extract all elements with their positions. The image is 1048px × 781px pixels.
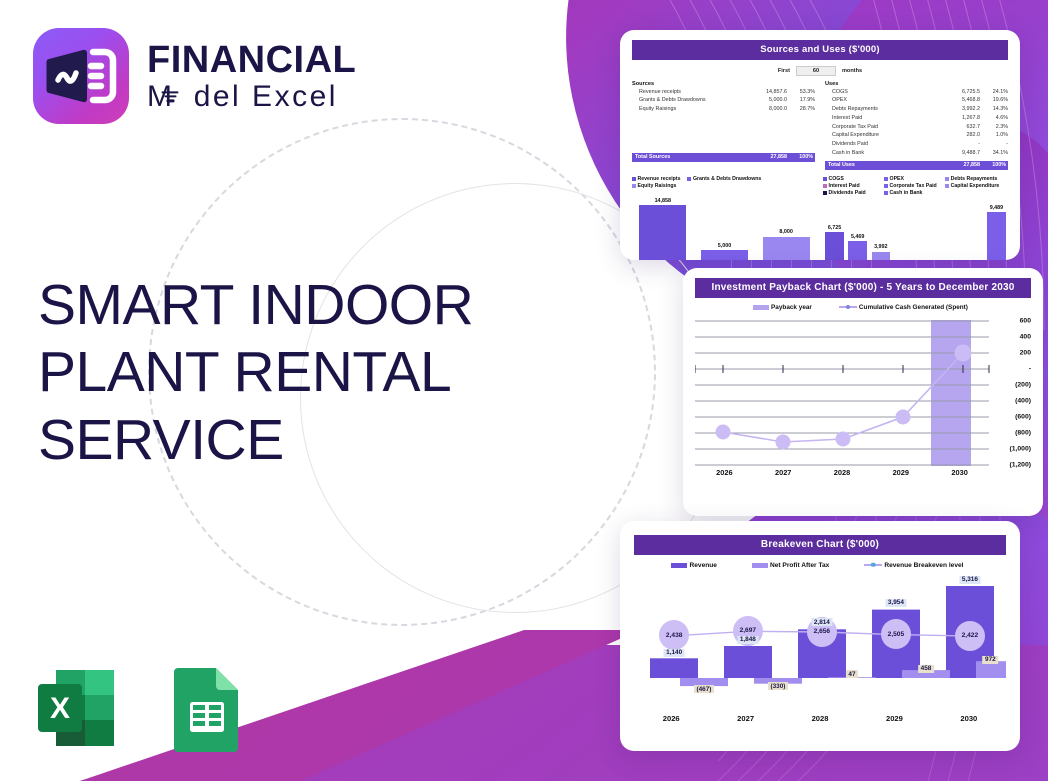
legend-swatch-icon [687,177,691,181]
bar-column: 5,469 [848,197,867,260]
uses-chart-legend: COGSOPEXDebts RepaymentsInterest PaidCor… [823,176,1008,197]
payback-plot-svg [695,320,1031,466]
legend-item: Interest Paid [823,183,884,189]
legend-item: Equity Raisings [632,183,676,189]
legend-item: COGS [823,176,884,182]
legend-label: Dividends Paid [829,190,866,196]
brand-o-bars-icon [162,89,179,104]
legend-swatch-npat-icon [752,563,768,568]
table-row: Equity Raisings8,000.028.7% [632,105,815,114]
legend-label: COGS [829,176,844,182]
table-row: Debts Repayments3,992.214.3% [825,105,1008,114]
legend-item-revenue: Revenue [671,562,717,569]
bar [763,237,810,260]
legend-swatch-icon [823,177,827,181]
bar-column: 14,858 [639,190,686,260]
legend-label: Cash in Bank [890,190,923,196]
legend-label: Capital Expenditure [951,183,1000,189]
sources-rows: Revenue receipts14,857.653.3% Grants & D… [632,88,815,114]
breakeven-chart-title: Breakeven Chart ($'000) [634,535,1006,555]
legend-item: Capital Expenditure [945,183,1006,189]
sources-and-uses-card: Sources and Uses ($'000) First 60 months… [620,30,1020,260]
bar [701,250,748,260]
bar-column: 5,000 [701,190,748,260]
legend-swatch-line-icon [839,306,857,307]
brand-name-line1: FINANCIAL [147,41,356,80]
uses-total-row: Total Uses 27,858 100% [825,161,1008,171]
revenue-value-label: 1,140 [664,649,685,657]
payback-year-band [931,320,971,466]
svg-text:X: X [50,692,70,725]
sources-uses-title: Sources and Uses ($'000) [632,40,1008,60]
legend-swatch-revenue-icon [671,563,687,568]
bar-value-label: 5,469 [851,234,865,240]
breakeven-bubble: 2,422 [955,621,985,651]
legend-swatch-icon [632,177,636,181]
uses-rows: COGS6,725.524.1% OPEX5,468.819.6% Debts … [825,88,1008,158]
bar-column: 1,268 [895,197,914,260]
bar [987,212,1006,260]
legend-label: Corporate Tax Paid [890,183,937,189]
payback-x-axis-labels: 2026 2027 2028 2029 2030 [695,468,1031,477]
breakeven-chart-legend: Revenue Net Profit After Tax Revenue Bre… [634,562,1006,570]
brand-logo: FINANCIAL Mo del Excel [33,28,356,124]
npat-value-label: 972 [983,656,999,664]
payback-plot: 600 400 200 - (200) (400) (600) (800) (1… [695,320,1031,466]
table-row: OPEX5,468.819.6% [825,96,1008,105]
npat-value-label: (467) [694,685,714,693]
npat-value-label: 47 [846,670,858,678]
legend-label: Grants & Debts Drawdowns [693,176,761,182]
legend-item-payback-year: Payback year [753,304,812,311]
bar-column: 0 [964,197,983,260]
npat-value-label: (330) [768,682,788,690]
breakeven-bubble: 2,505 [881,619,911,649]
legend-item-cumulative-cash: Cumulative Cash Generated (Spent) [839,304,968,311]
brand-line2-suffix: del Excel [194,80,338,113]
breakeven-x-axis-labels: 2026 2027 2028 2029 2030 [634,714,1006,723]
bar [825,232,844,260]
bar-value-label: 6,725 [828,225,842,231]
bar-column: 282 [941,197,960,260]
revenue-value-label: 2,814 [811,618,832,626]
table-row: Interest Paid1,267.84.6% [825,114,1008,123]
legend-item: Corporate Tax Paid [884,183,945,189]
legend-label: OPEX [890,176,904,182]
period-prefix-label: First [778,68,790,74]
bar [872,252,891,260]
legend-swatch-icon [632,184,636,188]
period-months-input[interactable]: 60 [796,66,836,76]
uses-bar-chart: COGSOPEXDebts RepaymentsInterest PaidCor… [823,172,1008,260]
period-row: First 60 months [632,66,1008,76]
legend-swatch-icon [884,184,888,188]
bar [848,241,867,260]
payback-chart-title: Investment Payback Chart ($'000) - 5 Yea… [695,278,1031,298]
legend-swatch-icon [823,184,827,188]
revenue-value-label: 1,848 [737,636,758,644]
breakeven-bubble: 2,438 [659,620,689,650]
uses-heading: Uses [825,81,1008,87]
legend-label: Interest Paid [829,183,860,189]
table-row: Dividends Paid-- [825,140,1008,149]
table-row: Revenue receipts14,857.653.3% [632,88,815,97]
bar-value-label: 9,489 [990,205,1004,211]
bar-value-label: 8,000 [779,229,793,235]
legend-swatch-icon [884,177,888,181]
breakeven-card: Breakeven Chart ($'000) Revenue Net Prof… [620,521,1020,751]
breakeven-plot: 2,438 2,697 2,656 2,505 2,422 1,140 1,84… [634,578,1006,706]
legend-label: Revenue receipts [638,176,681,182]
payback-y-axis-labels: 600 400 200 - (200) (400) (600) (800) (1… [991,320,1031,466]
page-title: SMART INDOOR PLANT RENTAL SERVICE [38,272,538,474]
revenue-value-label: 5,316 [959,576,980,584]
google-sheets-icon [160,662,252,754]
legend-swatch-breakeven-line-icon [864,564,882,565]
table-row: Corporate Tax Paid632.72.3% [825,123,1008,132]
legend-swatch-bar-icon [753,305,769,310]
bar-value-label: 14,858 [655,198,672,204]
financial-model-excel-logo-icon [33,28,129,124]
npat-value-label: 458 [918,665,934,673]
bar-value-label: 5,000 [718,243,732,249]
brand-o-glyph: Mo [147,80,194,113]
bar-column: 633 [918,197,937,260]
uses-bars: 6,7255,4693,9921,26863328209,489 [823,197,1008,260]
sources-chart-legend: Revenue receiptsGrants & Debts Drawdowns… [632,176,817,190]
brand-name-line2: Mo del Excel [147,80,356,113]
sources-column: Sources Revenue receipts14,857.653.3% Gr… [632,81,815,171]
legend-label: Equity Raisings [638,183,677,189]
legend-swatch-icon [945,184,949,188]
uses-column: Uses COGS6,725.524.1% OPEX5,468.819.6% D… [825,81,1008,171]
bar-column: 9,489 [987,197,1006,260]
sources-bars: 14,8585,0008,000 [632,190,817,260]
legend-item: Revenue receipts [632,176,680,182]
payback-chart-legend: Payback year Cumulative Cash Generated (… [695,304,1031,312]
legend-label: Debts Repayments [951,176,998,182]
legend-item-revenue-breakeven-level: Revenue Breakeven level [864,562,963,569]
investment-payback-card: Investment Payback Chart ($'000) - 5 Yea… [683,268,1043,516]
table-row: Cash in Bank9,488.734.1% [825,149,1008,158]
legend-swatch-icon [884,191,888,195]
sources-total-row: Total Sources 27,858 100% [632,153,815,163]
legend-item: Cash in Bank [884,190,945,196]
table-row: Grants & Debts Drawdowns5,000.017.9% [632,96,815,105]
bar-value-label: 3,992 [874,244,888,250]
legend-item: Grants & Debts Drawdowns [687,176,761,182]
microsoft-excel-icon: X [30,662,122,754]
period-suffix-label: months [842,68,862,74]
bar-column: 6,725 [825,197,844,260]
bar-column: 8,000 [763,190,810,260]
table-row: COGS6,725.524.1% [825,88,1008,97]
supported-formats: X [30,662,252,754]
revenue-value-label: 3,954 [885,599,906,607]
bar [639,205,686,260]
table-row: Capital Expenditure282.01.0% [825,131,1008,140]
sources-bar-chart: Revenue receiptsGrants & Debts Drawdowns… [632,172,817,260]
legend-item: Dividends Paid [823,190,884,196]
legend-swatch-icon [823,191,827,195]
legend-item: OPEX [884,176,945,182]
legend-swatch-icon [945,177,949,181]
sources-heading: Sources [632,81,815,87]
bar-column: 3,992 [872,197,891,260]
legend-item-net-profit-after-tax: Net Profit After Tax [752,562,829,569]
legend-item: Debts Repayments [945,176,1006,182]
